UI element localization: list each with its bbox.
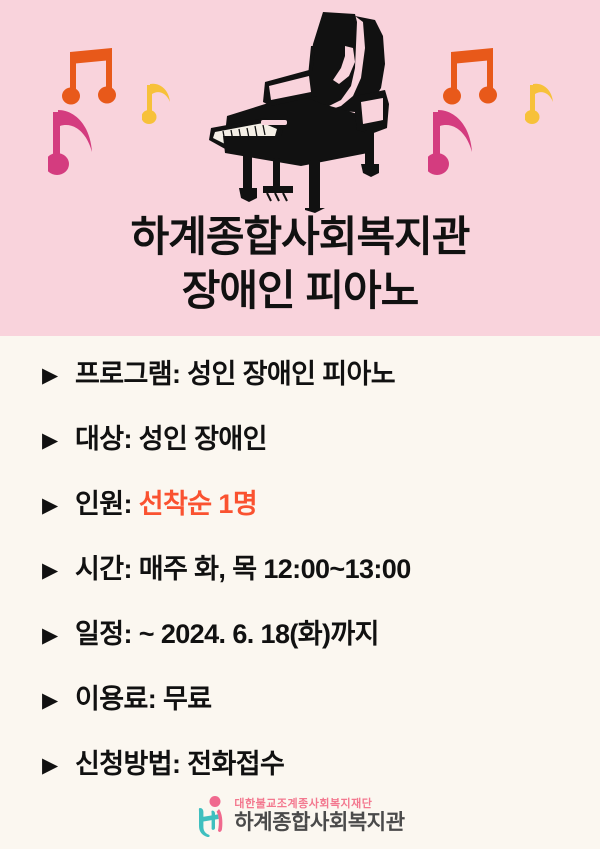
info-row-text: 프로그램: 성인 장애인 피아노 [75,352,395,391]
info-row-text: 일정: ~ 2024. 6. 18(화)까지 [75,612,379,651]
footer-center-name: 하계종합사회복지관 [234,811,404,835]
info-value: 성인 장애인 [139,424,267,454]
info-row-program: ▶ 프로그램: 성인 장애인 피아노 [0,352,600,417]
yellow-eighth-note-left [142,82,172,126]
info-row-fee: ▶ 이용료: 무료 [0,677,600,742]
info-label: 프로그램: [75,359,180,389]
info-label: 대상: [75,424,132,454]
triangle-bullet-icon: ▶ [42,365,66,386]
title-line-2: 장애인 피아노 [0,264,600,318]
pink-eighth-note-left [48,108,96,180]
info-row-time: ▶ 시간: 매주 화, 목 12:00~13:00 [0,547,600,612]
title-line-1: 하계종합사회복지관 [0,210,600,264]
footer-logo-text: 대한불교조계종사회복지재단 하계종합사회복지관 [234,797,404,835]
info-value: ~ 2024. 6. 18(화)까지 [139,619,379,649]
triangle-bullet-icon: ▶ [42,625,66,646]
triangle-bullet-icon: ▶ [42,430,66,451]
info-value: 매주 화, 목 12:00~13:00 [139,554,411,584]
orange-beamed-eighth-notes-left [62,48,116,112]
info-label: 이용료: [75,684,156,714]
info-value: 무료 [163,684,211,714]
triangle-bullet-icon: ▶ [42,690,66,711]
footer-organization: 대한불교조계종사회복지재단 [234,797,404,811]
info-row-schedule: ▶ 일정: ~ 2024. 6. 18(화)까지 [0,612,600,677]
info-value-highlight: 선착순 1명 [139,489,257,519]
info-label: 신청방법: [75,749,180,779]
info-row-capacity: ▶ 인원: 선착순 1명 [0,482,600,547]
info-row-text: 인원: 선착순 1명 [75,482,257,521]
footer-logo: 대한불교조계종사회복지재단 하계종합사회복지관 [0,790,600,842]
h-person-logo-icon [195,795,229,837]
info-row-text: 신청방법: 전화접수 [75,742,284,781]
info-label: 일정: [75,619,132,649]
info-row-text: 대상: 성인 장애인 [75,417,267,456]
triangle-bullet-icon: ▶ [42,755,66,776]
orange-beamed-eighth-notes-right [443,48,497,112]
pink-eighth-note-right [428,108,476,180]
info-row-text: 시간: 매주 화, 목 12:00~13:00 [75,547,411,586]
yellow-eighth-note-right [525,82,555,126]
poster-root: 하계종합사회복지관 장애인 피아노 ▶ 프로그램: 성인 장애인 피아노 ▶ 대… [0,0,600,849]
poster-title: 하계종합사회복지관 장애인 피아노 [0,210,600,318]
triangle-bullet-icon: ▶ [42,560,66,581]
info-label: 시간: [75,554,132,584]
info-label: 인원: [75,489,132,519]
triangle-bullet-icon: ▶ [42,495,66,516]
info-value: 성인 장애인 피아노 [187,359,395,389]
info-row-text: 이용료: 무료 [75,677,212,716]
grand-piano-icon [205,8,405,213]
info-value: 전화접수 [187,749,284,779]
info-list: ▶ 프로그램: 성인 장애인 피아노 ▶ 대상: 성인 장애인 ▶ 인원: 선착… [0,352,600,807]
info-row-target: ▶ 대상: 성인 장애인 [0,417,600,482]
